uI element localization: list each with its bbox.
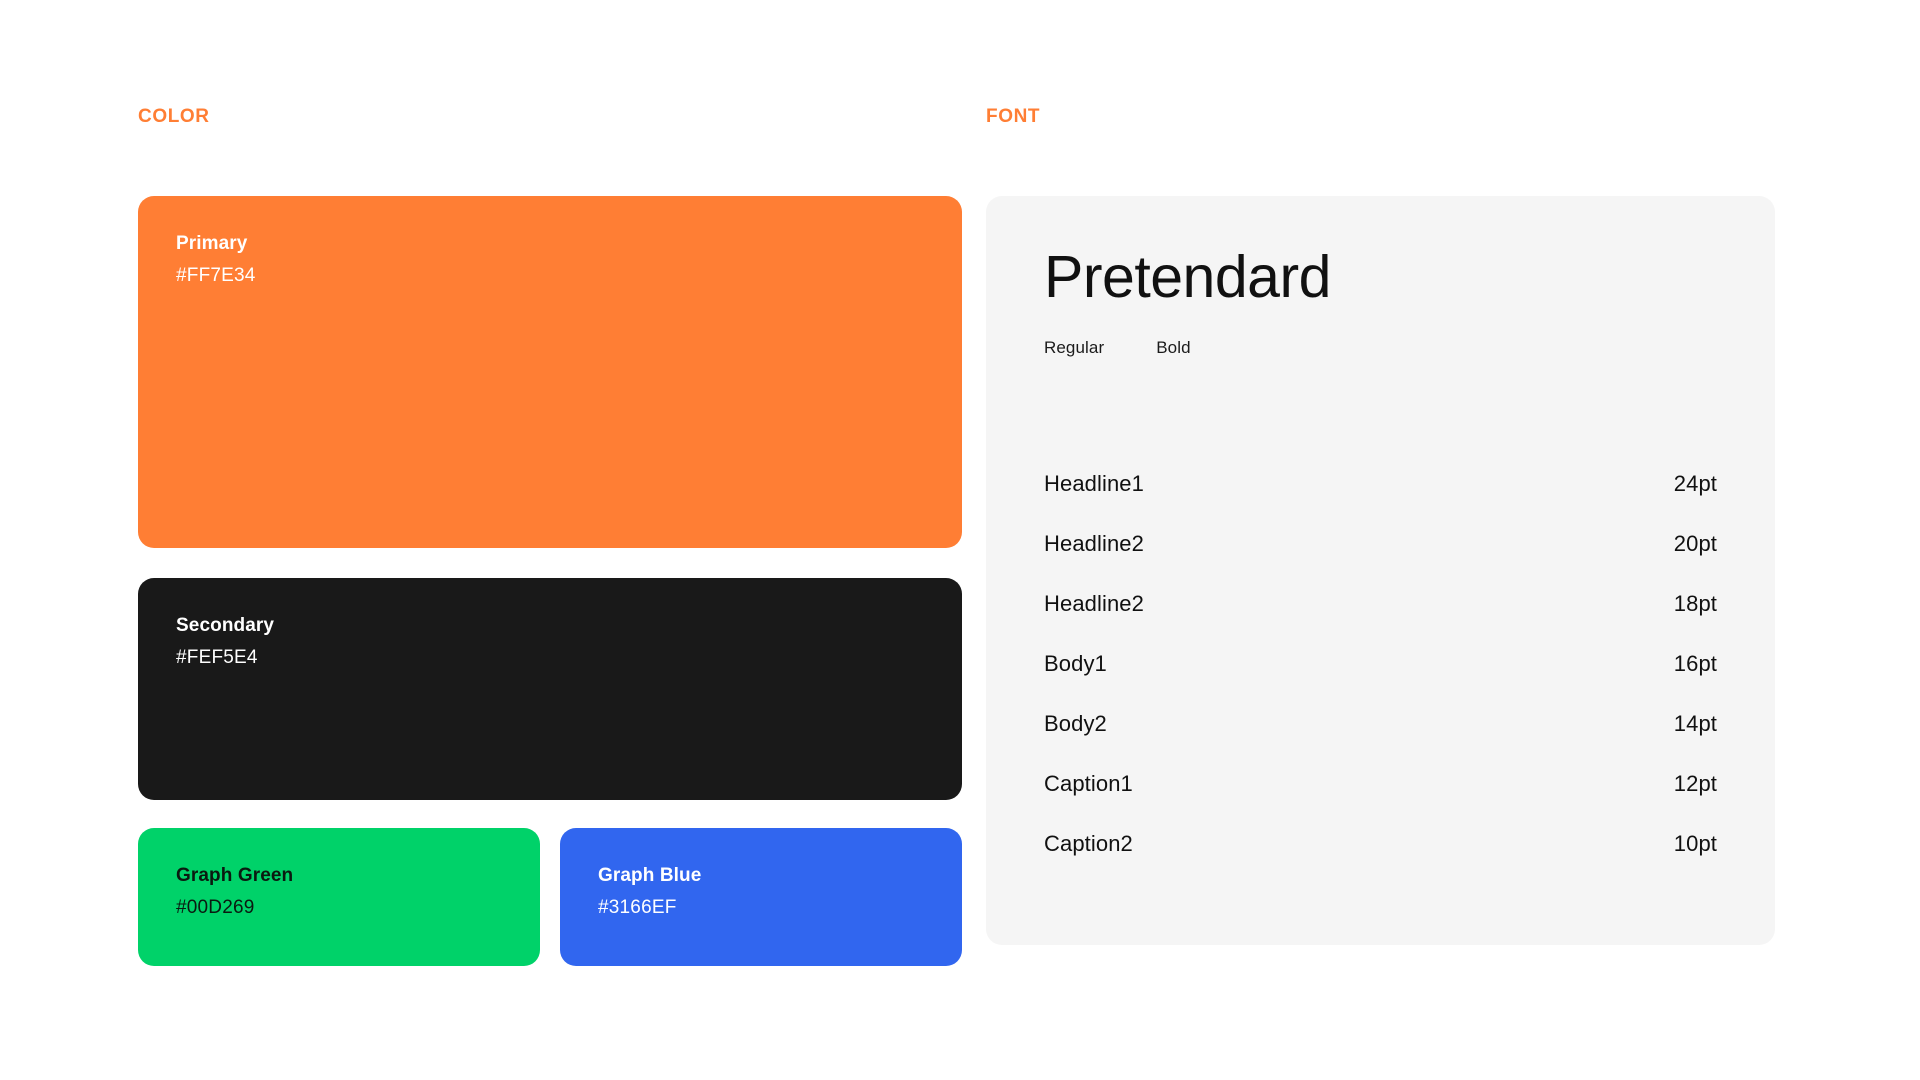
color-swatch-row: Graph Green #00D269 Graph Blue #3166EF xyxy=(138,828,962,966)
color-swatch-graph-blue[interactable]: Graph Blue #3166EF xyxy=(560,828,962,966)
font-weight-item-bold: Bold xyxy=(1156,338,1190,358)
swatch-name-secondary: Secondary xyxy=(176,612,924,640)
type-scale-role: Caption2 xyxy=(1044,831,1133,857)
swatch-hex-graph-blue: #3166EF xyxy=(598,894,924,923)
font-weight-list: RegularBold xyxy=(1044,338,1717,358)
color-swatch-graph-green[interactable]: Graph Green #00D269 xyxy=(138,828,540,966)
type-scale-size: 16pt xyxy=(1674,651,1717,677)
style-guide-page: COLOR Primary #FF7E34 Secondary #FEF5E4 … xyxy=(0,0,1920,1080)
font-specimen-card: Pretendard RegularBold Headline124ptHead… xyxy=(986,196,1775,945)
swatch-name-primary: Primary xyxy=(176,230,924,258)
swatch-hex-graph-green: #00D269 xyxy=(176,894,502,923)
type-scale-size: 10pt xyxy=(1674,831,1717,857)
type-scale-size: 14pt xyxy=(1674,711,1717,737)
font-section-label: FONT xyxy=(986,106,1040,128)
color-swatch-primary[interactable]: Primary #FF7E34 xyxy=(138,196,962,548)
type-scale-role: Headline2 xyxy=(1044,591,1144,617)
color-swatch-column: Primary #FF7E34 Secondary #FEF5E4 Graph … xyxy=(138,196,962,966)
swatch-hex-primary: #FF7E34 xyxy=(176,262,924,291)
color-swatch-secondary[interactable]: Secondary #FEF5E4 xyxy=(138,578,962,800)
type-scale-row: Body116pt xyxy=(1044,651,1717,711)
font-family-name: Pretendard xyxy=(1044,244,1717,312)
type-scale-role: Headline1 xyxy=(1044,471,1144,497)
type-scale-size: 18pt xyxy=(1674,591,1717,617)
type-scale-size: 24pt xyxy=(1674,471,1717,497)
swatch-hex-secondary: #FEF5E4 xyxy=(176,644,924,673)
color-section-label: COLOR xyxy=(138,106,210,128)
swatch-name-graph-blue: Graph Blue xyxy=(598,862,924,890)
type-scale-row: Headline220pt xyxy=(1044,531,1717,591)
type-scale-role: Caption1 xyxy=(1044,771,1133,797)
type-scale-size: 12pt xyxy=(1674,771,1717,797)
type-scale-row: Headline124pt xyxy=(1044,471,1717,531)
font-weight-item-regular: Regular xyxy=(1044,338,1104,358)
swatch-name-graph-green: Graph Green xyxy=(176,862,502,890)
type-scale-row: Body214pt xyxy=(1044,711,1717,771)
type-scale-size: 20pt xyxy=(1674,531,1717,557)
type-scale-row: Caption112pt xyxy=(1044,771,1717,831)
type-scale-role: Body2 xyxy=(1044,711,1107,737)
type-scale-row: Headline218pt xyxy=(1044,591,1717,651)
type-scale-row: Caption210pt xyxy=(1044,831,1717,891)
type-scale-role: Headline2 xyxy=(1044,531,1144,557)
type-scale-role: Body1 xyxy=(1044,651,1107,677)
type-scale-list: Headline124ptHeadline220ptHeadline218ptB… xyxy=(1044,471,1717,891)
